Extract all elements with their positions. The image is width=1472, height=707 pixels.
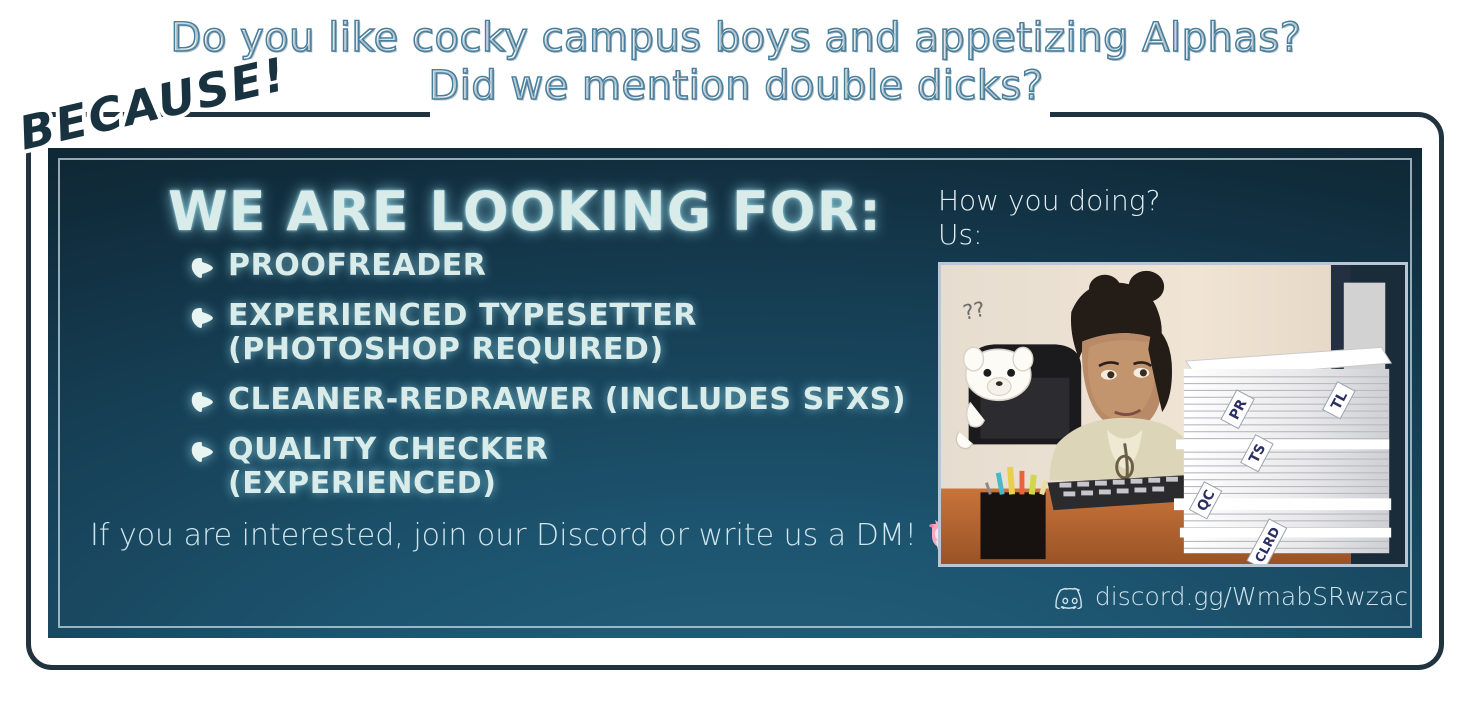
- job-label: PROOFREADER: [228, 249, 487, 283]
- heart-arrow-bullet-icon: [190, 305, 216, 331]
- heart-arrow-bullet-icon: [190, 255, 216, 281]
- photo-column: How you doing? Us:: [938, 184, 1426, 567]
- photo-illustration: ??: [941, 265, 1405, 564]
- job-label: QUALITY CHECKER (EXPERIENCED): [228, 433, 549, 501]
- answer-label: Us:: [938, 218, 1426, 252]
- heart-arrow-bullet-icon: [190, 389, 216, 415]
- list-item[interactable]: PROOFREADER: [190, 249, 910, 283]
- frame-top-gap: [430, 104, 1050, 122]
- job-label: EXPERIENCED TYPESETTER (PHOTOSHOP REQUIR…: [228, 299, 697, 367]
- job-label: CLEANER-REDRAWER (INCLUDES SFXS): [228, 383, 906, 417]
- list-item[interactable]: CLEANER-REDRAWER (INCLUDES SFXS): [190, 383, 910, 417]
- job-list: PROOFREADER EXPERIENCED TYPESETTER (PHOT…: [90, 249, 910, 501]
- headline-secondary: Did we mention double dicks?: [414, 62, 1057, 110]
- discord-url-text: discord.gg/WmabSRwzac: [1095, 582, 1408, 611]
- discord-icon: [1055, 586, 1085, 608]
- call-to-action: If you are interested, join our Discord …: [90, 517, 910, 553]
- cta-text: If you are interested, join our Discord …: [90, 518, 917, 553]
- list-item[interactable]: EXPERIENCED TYPESETTER (PHOTOSHOP REQUIR…: [190, 299, 910, 367]
- office-desk-photo: ??: [938, 262, 1408, 567]
- headline-primary: Do you like cocky campus boys and appeti…: [0, 14, 1472, 62]
- discord-link[interactable]: discord.gg/WmabSRwzac: [1055, 582, 1408, 611]
- heart-arrow-bullet-icon: [190, 439, 216, 465]
- question-text: How you doing?: [938, 184, 1426, 218]
- list-item[interactable]: QUALITY CHECKER (EXPERIENCED): [190, 433, 910, 501]
- page-title: WE ARE LOOKING FOR:: [168, 180, 910, 243]
- recruitment-column: WE ARE LOOKING FOR: PROOFREADER EXPERIEN…: [90, 180, 910, 553]
